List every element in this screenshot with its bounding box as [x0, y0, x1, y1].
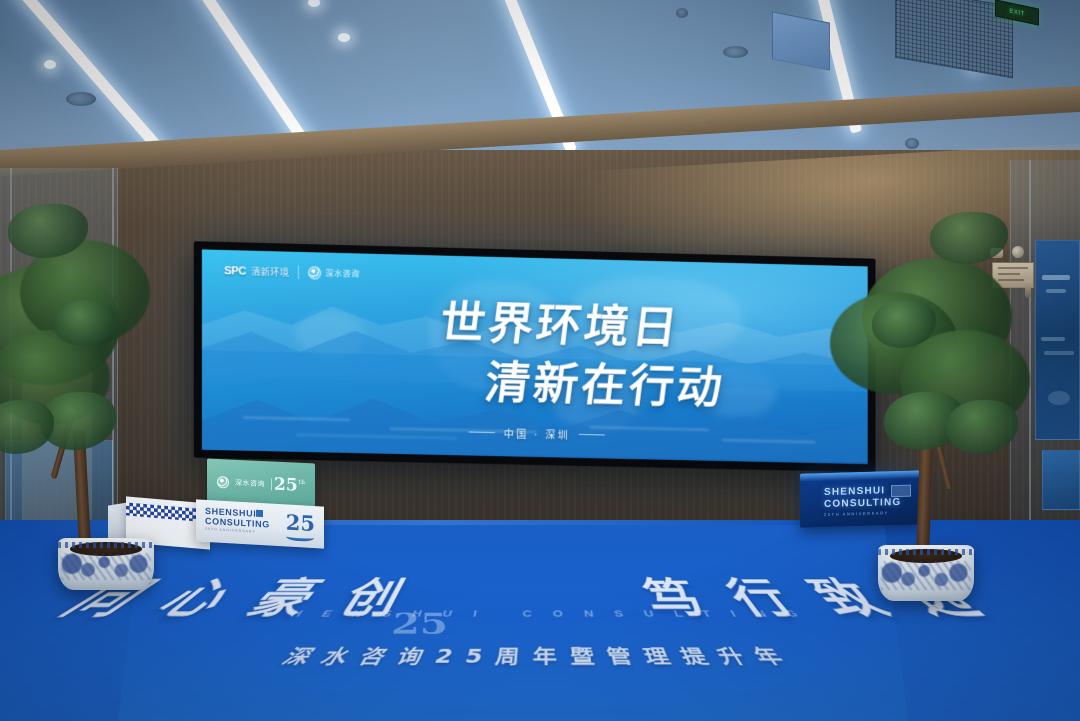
led-screen-content: SPC 清新环境 深水咨询 世界环境日 清新在行动 中国 · 深圳 — [202, 249, 868, 464]
screen-brand-logos: SPC 清新环境 深水咨询 — [224, 264, 360, 280]
podium-right-line-3: 25TH ANNIVERSARY — [824, 510, 901, 517]
shenshui-logo: 深水咨询 — [308, 266, 359, 280]
right-wall-poster — [1035, 240, 1080, 440]
logo-divider — [298, 266, 299, 279]
rule-right — [579, 434, 605, 436]
right-wall-poster-lower — [1042, 450, 1080, 510]
shenshui-ring-icon — [308, 266, 321, 279]
downlight-icon — [338, 33, 350, 42]
plaque-line — [998, 267, 1028, 269]
ceiling-camera-icon — [676, 8, 688, 18]
planter-band — [58, 542, 154, 548]
podium-left-square-mark — [256, 510, 263, 517]
podium-right[interactable]: SHENSHUI CONSULTING 25TH ANNIVERSARY — [800, 470, 922, 527]
lobby-scene: EXIT — [0, 0, 1080, 721]
podium-left-anniversary: 25th — [274, 475, 305, 496]
exit-sign-label: EXIT — [1009, 8, 1024, 17]
spc-logo: SPC 清新环境 — [224, 264, 289, 279]
podium-left-brand-chinese: 深水咨询 — [235, 478, 265, 489]
podium-left-anniversary-number: 25 — [274, 475, 298, 496]
podium-right-text: SHENSHUI CONSULTING 25TH ANNIVERSARY — [824, 485, 901, 517]
location-label: 中国 · 深圳 — [504, 425, 570, 441]
plaque-line — [998, 273, 1020, 275]
downlight-icon — [44, 60, 56, 69]
shenshui-ring-icon — [217, 476, 229, 489]
podium-left-anniversary-sup: th — [299, 479, 305, 486]
headline-line-2: 清新在行动 — [482, 346, 729, 416]
podium-left-logos: 深水咨询 — [217, 476, 272, 490]
floor-sub-slogan: 深水咨询25周年暨管理提升年 — [0, 642, 1080, 669]
ceiling-speaker-icon — [723, 46, 748, 58]
ceiling-camera-icon — [905, 138, 919, 149]
screen-headline: 世界环境日 清新在行动 — [202, 280, 868, 420]
floor-latin-line: SHENSHUI CONSULTING — [0, 608, 1080, 618]
ceiling-speaker-icon — [66, 92, 96, 106]
logo-divider — [271, 478, 272, 490]
spc-logo-icon: SPC — [224, 265, 246, 278]
planter-blue-motif — [61, 553, 151, 580]
glass-mullion — [1029, 160, 1031, 570]
door-handle[interactable] — [1025, 280, 1031, 298]
podium-left-base[interactable]: SHENSHUI CONSULTING 25TH ANNIVERSARY 25 — [196, 499, 324, 548]
planter-left — [58, 538, 154, 590]
rule-left — [469, 431, 495, 433]
podium-left-swoosh-icon — [286, 532, 314, 542]
planter-band — [878, 549, 974, 555]
wall-dome-sensor-icon — [1012, 246, 1024, 258]
headline-line-1: 世界环境日 — [437, 286, 685, 357]
planter-blue-motif — [881, 561, 971, 590]
podium-right-line-2: CONSULTING — [824, 496, 901, 510]
planter-right — [878, 545, 974, 601]
floor-anniversary-mark: 25 — [389, 608, 464, 643]
podium-right-badge — [891, 485, 911, 498]
spc-logo-chinese: 清新环境 — [251, 265, 289, 279]
shenshui-logo-chinese: 深水咨询 — [326, 268, 360, 280]
plaque-line — [998, 279, 1024, 281]
led-video-wall[interactable]: SPC 清新环境 深水咨询 世界环境日 清新在行动 中国 · 深圳 — [194, 241, 876, 472]
